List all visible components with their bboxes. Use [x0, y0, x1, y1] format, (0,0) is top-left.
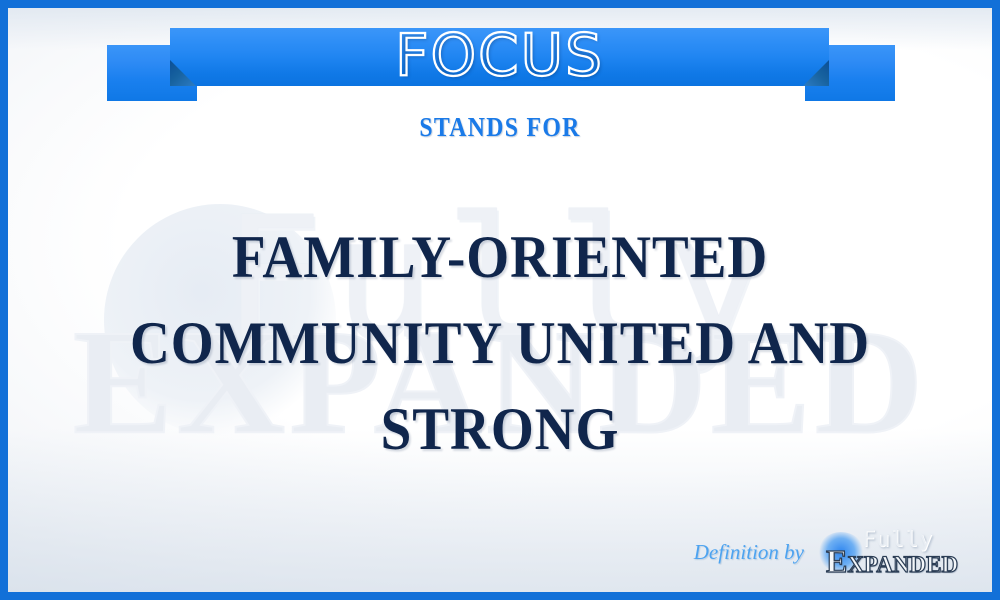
definition-card: Fully EXPANDED FOCUS STANDS FOR FAMILY-O… [0, 0, 1000, 600]
definition-text: FAMILY-ORIENTED COMMUNITY UNITED AND STR… [47, 214, 952, 472]
definition-by-label: Definition by [694, 540, 804, 565]
logo-expanded-rest: XPANDED [847, 552, 958, 577]
fully-expanded-logo[interactable]: Fully EXPANDED [820, 530, 970, 574]
definition-line-2: COMMUNITY UNITED AND [47, 300, 952, 386]
footer-credit: Definition by Fully EXPANDED [694, 530, 970, 574]
definition-line-3: STRONG [47, 386, 952, 472]
logo-expanded-cap: E [826, 543, 847, 579]
stands-for-label: STANDS FOR [67, 112, 933, 143]
definition-line-1: FAMILY-ORIENTED [47, 214, 952, 300]
acronym-term: FOCUS [395, 26, 604, 84]
ribbon-banner-center: FOCUS [170, 28, 829, 86]
logo-expanded-text: EXPANDED [826, 545, 958, 577]
